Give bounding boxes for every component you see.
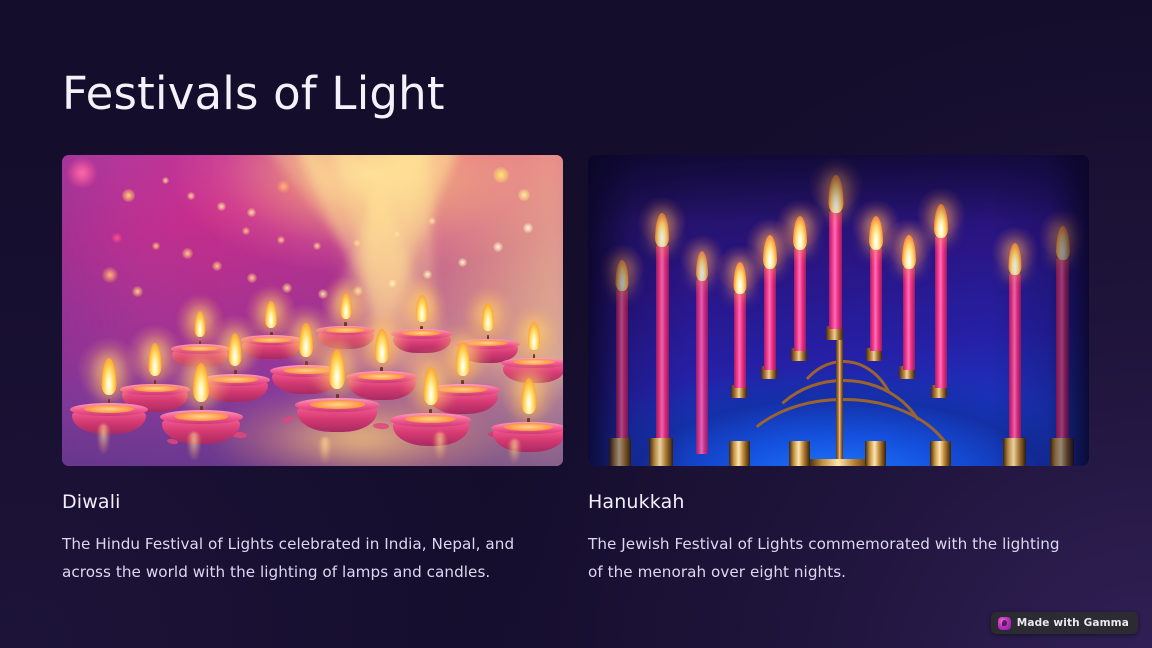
hanukkah-image <box>588 155 1089 466</box>
bokeh-light <box>353 239 361 247</box>
card-diwali: Diwali The Hindu Festival of Lights cele… <box>62 155 563 587</box>
bokeh-light <box>132 286 143 297</box>
bokeh-light <box>277 236 285 244</box>
bokeh-light <box>112 233 122 243</box>
bokeh-light <box>458 258 467 267</box>
bokeh-light <box>313 242 321 250</box>
bokeh-light <box>67 158 97 188</box>
made-with-gamma-badge[interactable]: Made with Gamma <box>991 612 1138 634</box>
bokeh-light <box>493 242 503 252</box>
bokeh-light <box>428 217 436 225</box>
bokeh-light <box>393 230 401 238</box>
card-body-hanukkah: The Jewish Festival of Lights commemorat… <box>588 530 1068 587</box>
made-with-gamma-label: Made with Gamma <box>1017 617 1129 629</box>
diya-lamp <box>493 410 563 452</box>
diwali-image <box>62 155 563 466</box>
bokeh-light <box>162 177 169 184</box>
gamma-logo-icon <box>998 617 1011 630</box>
bokeh-light <box>102 267 118 283</box>
bokeh-light <box>423 270 432 279</box>
bokeh-light <box>388 279 397 288</box>
bokeh-light <box>277 180 290 193</box>
card-title-hanukkah: Hanukkah <box>588 490 1089 515</box>
flame-reflection <box>433 432 447 460</box>
diya-lamp <box>297 385 377 432</box>
cards-container: Diwali The Hindu Festival of Lights cele… <box>62 155 1088 587</box>
bokeh-light <box>247 273 257 283</box>
flame-reflection <box>318 437 332 463</box>
bokeh-light <box>212 261 222 271</box>
image-vignette <box>588 155 1089 466</box>
slide: Festivals of Light <box>0 0 1152 648</box>
card-body-diwali: The Hindu Festival of Lights celebrated … <box>62 530 557 587</box>
diwali-artwork <box>62 155 563 466</box>
card-hanukkah: Hanukkah The Jewish Festival of Lights c… <box>588 155 1089 587</box>
diya-lamp <box>162 398 240 444</box>
hanukkah-artwork <box>588 155 1089 466</box>
bokeh-light <box>187 192 195 200</box>
bokeh-light <box>242 227 250 235</box>
diya-lamp <box>393 401 469 446</box>
bokeh-light <box>217 202 226 211</box>
page-title: Festivals of Light <box>62 68 445 120</box>
bokeh-light <box>247 208 256 217</box>
card-title-diwali: Diwali <box>62 490 563 515</box>
